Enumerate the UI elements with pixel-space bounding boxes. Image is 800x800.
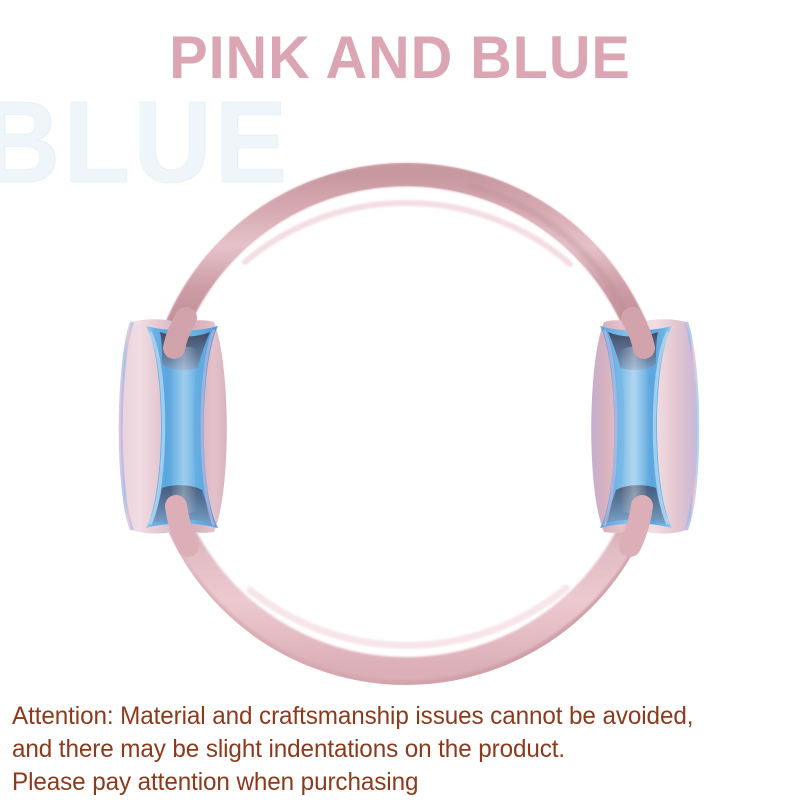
ring-group: [157, 175, 656, 674]
right-ring-upper-segment: [632, 318, 644, 348]
left-ring-lower-segment: [176, 506, 188, 546]
right-ring-lower-segment: [630, 506, 642, 546]
caption-line-2: and there may be slight indentations on …: [12, 733, 776, 766]
product-image-canvas: BLUE PINK AND BLUE: [0, 0, 800, 800]
attention-caption: Attention: Material and craftsmanship is…: [12, 700, 776, 799]
left-ring-upper-segment: [174, 318, 186, 348]
caption-line-3: Please pay attention when purchasing: [12, 766, 776, 799]
caption-line-1: Attention: Material and craftsmanship is…: [12, 700, 776, 733]
ring-top-arc: [175, 175, 637, 330]
pilates-ring-illustration: [0, 0, 800, 800]
